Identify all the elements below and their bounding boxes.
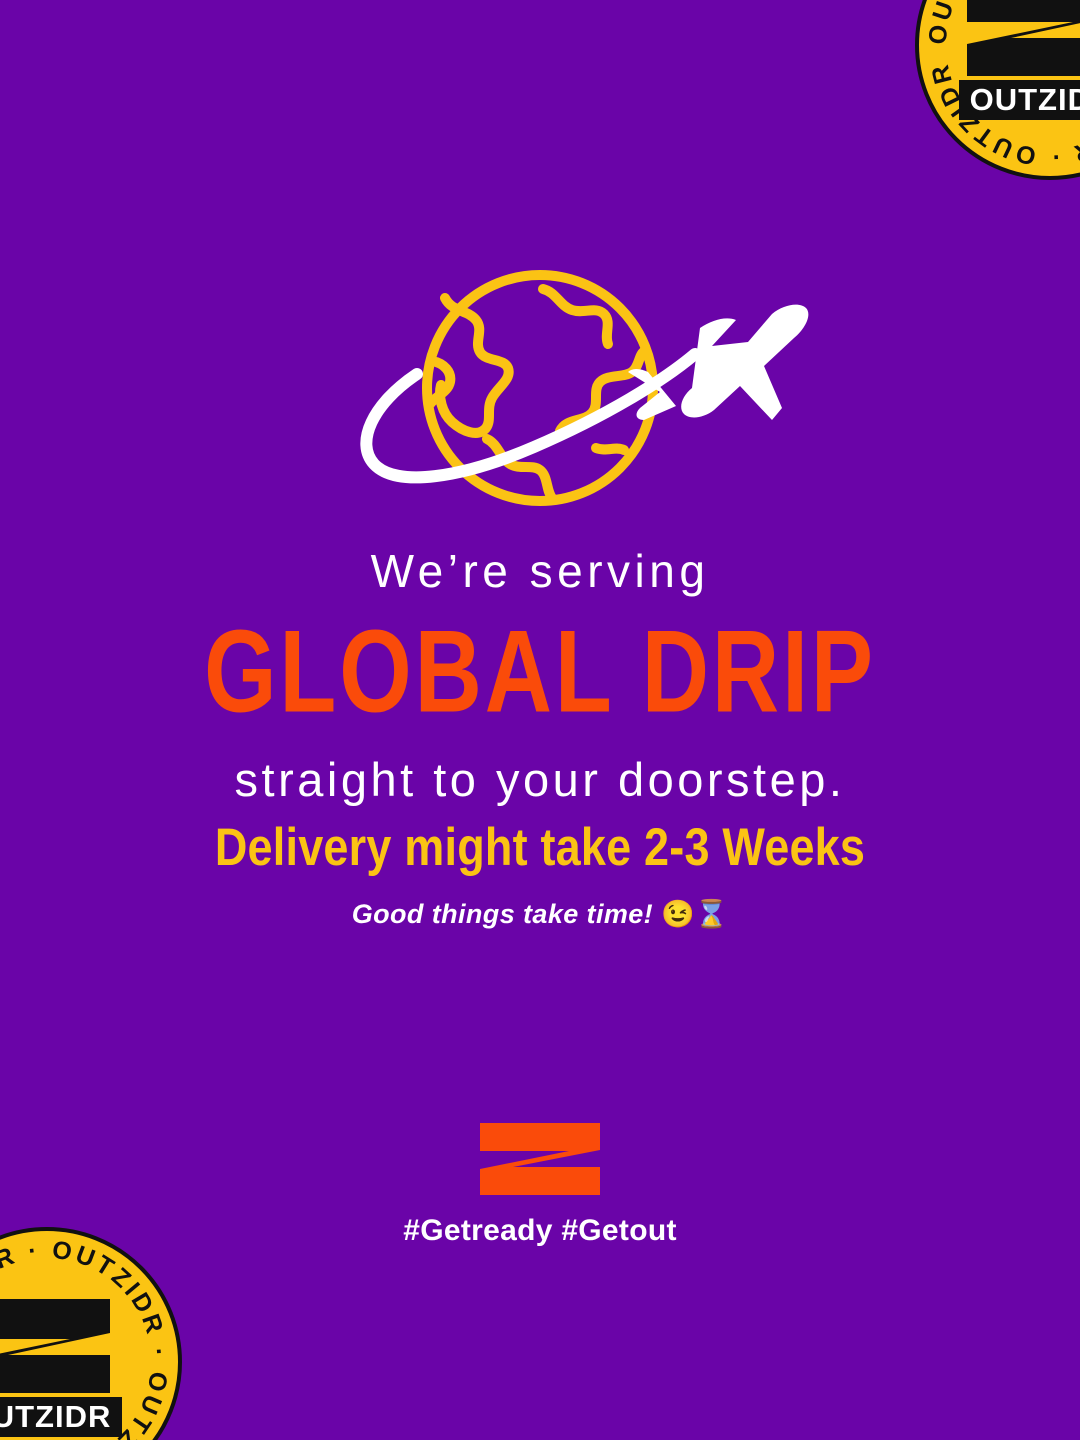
promo-poster: We’re serving GLOBAL DRIP straight to yo… — [0, 0, 1080, 1440]
delivery-note: Good things take time! 😉⌛ — [0, 901, 1080, 928]
delivery-headline: Delivery might take 2-3 Weeks — [0, 820, 1080, 873]
badge-center-mark: OUTZIDR — [959, 0, 1080, 120]
badge-wordmark: OUTZIDR — [0, 1399, 111, 1434]
subline: straight to your doorstep. — [0, 756, 1080, 803]
badge-center-mark: OUTZIDR — [0, 1299, 122, 1437]
z-logo-mark — [477, 1120, 603, 1198]
outzidr-badge-bottom-left: OUTZIDR · OUTZIDR · OUTZIDR · OUTZIDR · … — [0, 1227, 182, 1440]
badge-top-right-graphic: OUTZIDR · OUTZIDR · OUTZIDR · OUTZIDR · … — [915, 0, 1080, 180]
globe-plane-illustration — [0, 268, 1080, 516]
outzidr-badge-top-right: OUTZIDR · OUTZIDR · OUTZIDR · OUTZIDR · … — [915, 0, 1080, 185]
badge-bottom-left-graphic: OUTZIDR · OUTZIDR · OUTZIDR · OUTZIDR · … — [0, 1227, 182, 1440]
delivery-note-text: Good things take time! — [352, 899, 653, 929]
delivery-info-block: Delivery might take 2-3 Weeks Good thing… — [0, 820, 1080, 928]
wink-hourglass-emoji: 😉⌛ — [661, 899, 728, 929]
badge-wordmark: OUTZIDR — [970, 82, 1080, 117]
kicker-line: We’re serving — [0, 548, 1080, 594]
headline: GLOBAL DRIP — [16, 614, 1064, 731]
main-copy-block: We’re serving GLOBAL DRIP straight to yo… — [0, 548, 1080, 803]
hero-artwork — [0, 268, 1080, 516]
